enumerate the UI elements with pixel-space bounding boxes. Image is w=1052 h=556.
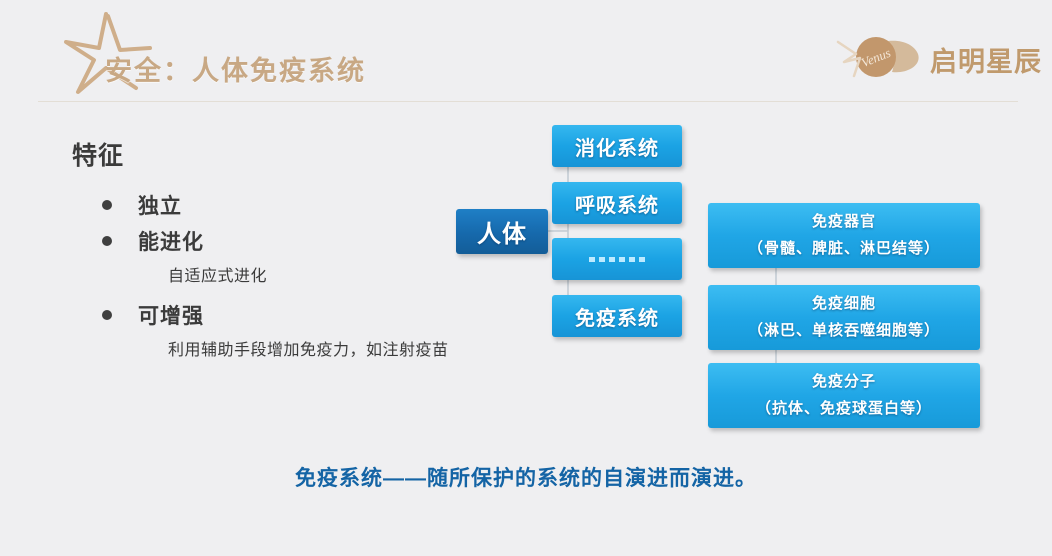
diagram-node-root[interactable]: 人体: [456, 209, 548, 254]
ellipsis-icon: [589, 257, 645, 262]
diagram-node-leaf-immune-cells[interactable]: 免疫细胞 （淋巴、单核吞噬细胞等）: [708, 285, 980, 350]
node-sublabel: （抗体、免疫球蛋白等）: [756, 396, 932, 422]
brand-logo: Venus 启明星辰: [834, 28, 1024, 86]
node-label: 呼吸系统: [575, 189, 659, 218]
diagram-node-leaf-immune-molecules[interactable]: 免疫分子 （抗体、免疫球蛋白等）: [708, 363, 980, 428]
node-label: 人体: [477, 214, 527, 249]
node-label: 免疫系统: [575, 302, 659, 331]
feature-row: 独立: [102, 190, 472, 220]
feature-subtext: 自适应式进化: [168, 262, 472, 286]
immune-system-diagram: 人体 消化系统 呼吸系统 免疫系统 免疫器官 （骨髓、脾脏、淋巴结等） 免疫细胞…: [440, 118, 1020, 438]
node-label: 免疫器官: [812, 209, 876, 235]
features-section: 特征 独立 能进化 自适应式进化 可增强 利用辅助手段增加免疫力，如注射疫苗: [72, 136, 472, 374]
feature-label: 能进化: [138, 226, 204, 256]
bullet-icon: [102, 200, 112, 210]
diagram-node-branch-respiratory[interactable]: 呼吸系统: [552, 182, 682, 224]
feature-item: 能进化 自适应式进化: [72, 226, 472, 286]
features-heading: 特征: [72, 136, 472, 172]
feature-label: 独立: [138, 190, 182, 220]
slide-header: 安全：人体免疫系统 Venus 启明星辰: [0, 0, 1052, 104]
diagram-node-branch-immune[interactable]: 免疫系统: [552, 295, 682, 337]
venus-logo-icon: Venus: [834, 28, 926, 86]
node-label: 消化系统: [575, 132, 659, 161]
diagram-node-branch-digestive[interactable]: 消化系统: [552, 125, 682, 167]
header-divider: [38, 101, 1018, 102]
bullet-icon: [102, 236, 112, 246]
footer-note: 免疫系统——随所保护的系统的自演进而演进。: [0, 462, 1052, 492]
brand-wordmark: 启明星辰: [930, 40, 1042, 79]
node-sublabel: （淋巴、单核吞噬细胞等）: [748, 318, 940, 344]
feature-label: 可增强: [138, 300, 204, 330]
feature-row: 可增强: [102, 300, 472, 330]
diagram-node-leaf-immune-organs[interactable]: 免疫器官 （骨髓、脾脏、淋巴结等）: [708, 203, 980, 268]
page-title: 安全：人体免疫系统: [105, 49, 366, 88]
feature-item: 独立: [72, 190, 472, 220]
node-label: 免疫细胞: [812, 291, 876, 317]
feature-row: 能进化: [102, 226, 472, 256]
node-sublabel: （骨髓、脾脏、淋巴结等）: [748, 236, 940, 262]
diagram-node-branch-ellipsis[interactable]: [552, 238, 682, 280]
feature-subtext: 利用辅助手段增加免疫力，如注射疫苗: [168, 336, 472, 360]
bullet-icon: [102, 310, 112, 320]
feature-item: 可增强 利用辅助手段增加免疫力，如注射疫苗: [72, 300, 472, 360]
node-label: 免疫分子: [812, 369, 876, 395]
